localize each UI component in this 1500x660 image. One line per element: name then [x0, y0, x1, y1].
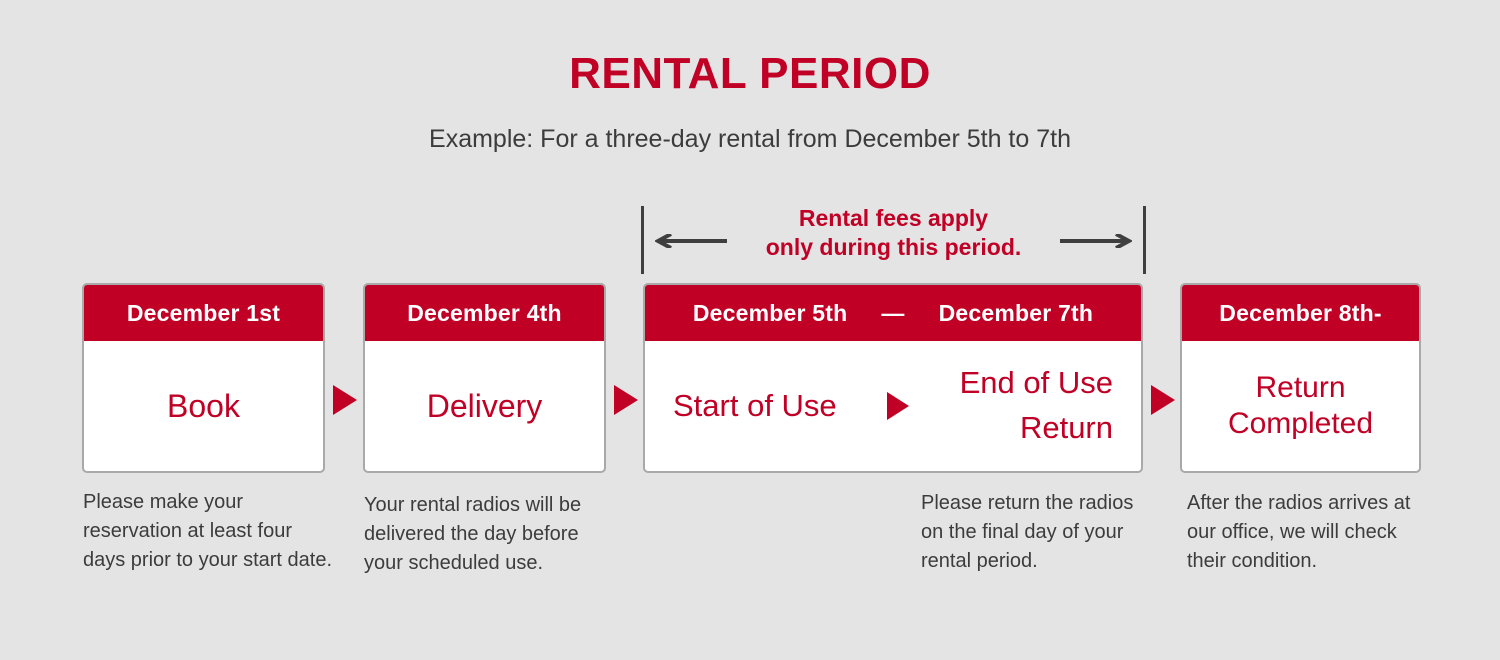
card-date-separator: —	[881, 300, 904, 327]
page-title: RENTAL PERIOD	[0, 52, 1500, 96]
timeline-card-return-completed[interactable]: December 8th- Return Completed	[1180, 283, 1421, 473]
card-status-row: Start of Use End of Use Return	[645, 341, 1141, 471]
card-date-header: December 4th	[365, 285, 604, 341]
card-status-line-2: Completed	[1228, 406, 1373, 442]
card-status-end: End of Use Return	[960, 361, 1113, 451]
annotation-line-2: only during this period.	[641, 233, 1146, 262]
card-status-label: Return Completed	[1182, 341, 1419, 471]
card-status-start: Start of Use	[673, 387, 837, 424]
card-date-header: December 8th-	[1182, 285, 1419, 341]
page-subtitle: Example: For a three-day rental from Dec…	[0, 124, 1500, 154]
timeline-card-book[interactable]: December 1st Book	[82, 283, 325, 473]
rental-fee-annotation: Rental fees apply only during this perio…	[641, 206, 1146, 274]
card-status-end-line-2: Return	[960, 406, 1113, 451]
card-date-end: December 7th	[939, 300, 1094, 327]
card-date-header: December 5th — December 7th	[645, 285, 1141, 341]
triangle-right-icon	[887, 392, 909, 420]
triangle-right-icon	[1151, 385, 1175, 415]
card-caption: Please return the radios on the final da…	[921, 489, 1161, 576]
annotation-line-1: Rental fees apply	[641, 204, 1146, 233]
card-status-label: Delivery	[365, 341, 604, 471]
card-date-header: December 1st	[84, 285, 323, 341]
triangle-right-icon	[614, 385, 638, 415]
timeline-card-delivery[interactable]: December 4th Delivery	[363, 283, 606, 473]
triangle-right-icon	[333, 385, 357, 415]
card-caption: After the radios arrives at our office, …	[1187, 489, 1439, 576]
annotation-text: Rental fees apply only during this perio…	[641, 204, 1146, 262]
card-caption: Your rental radios will be delivered the…	[364, 491, 614, 578]
card-caption: Please make your reservation at least fo…	[83, 488, 333, 575]
timeline-card-use-period[interactable]: December 5th — December 7th Start of Use…	[643, 283, 1143, 473]
card-status-label: Book	[84, 341, 323, 471]
card-status-line-1: Return	[1228, 370, 1373, 406]
card-date-start: December 5th	[693, 300, 848, 327]
card-status-end-line-1: End of Use	[960, 361, 1113, 406]
